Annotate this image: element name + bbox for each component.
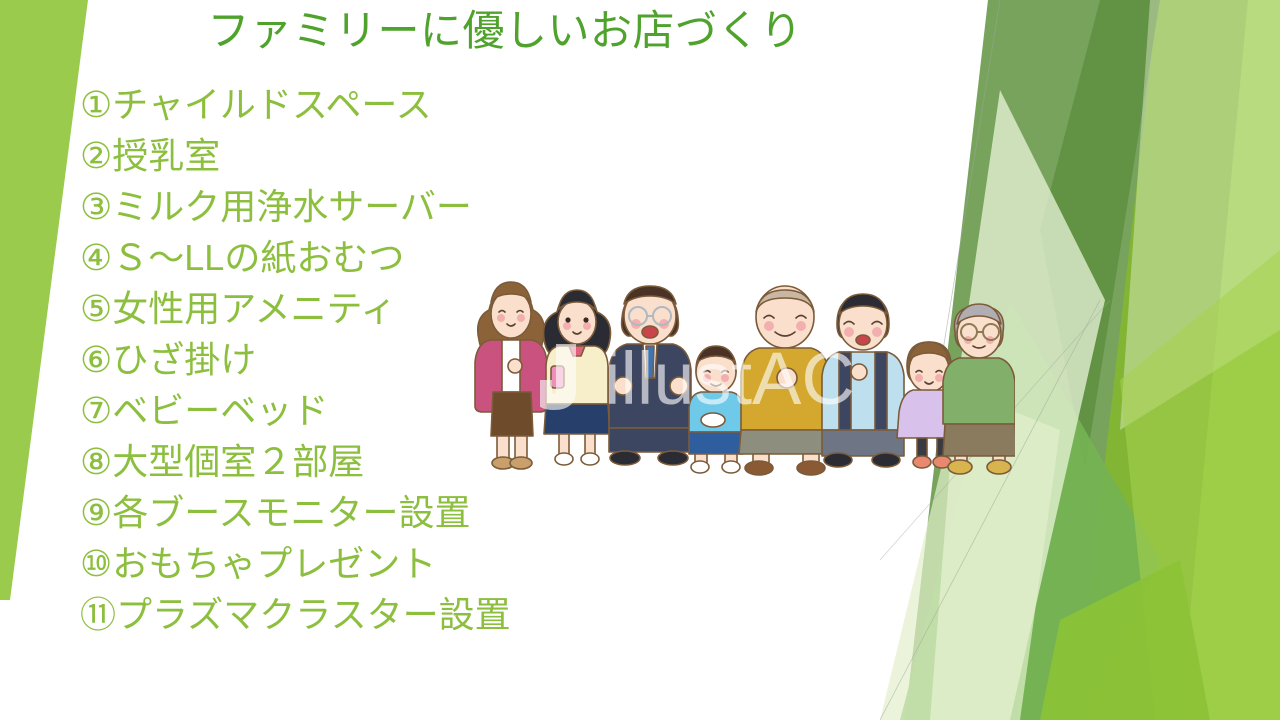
- list-item-label: プラズマクラスター設置: [116, 594, 511, 635]
- feature-list: ①チャイルドスペース ②授乳室 ③ミルク用浄水サーバー ④Ｓ～LLの紙おむつ ⑤…: [80, 79, 700, 640]
- list-item-label: ベビーベッド: [112, 390, 328, 431]
- list-item-label: Ｓ～LLの紙おむつ: [112, 237, 404, 278]
- list-item: ③ミルク用浄水サーバー: [80, 181, 700, 232]
- list-item-number: ⑨: [80, 492, 112, 533]
- list-item-number: ⑪: [80, 594, 116, 635]
- list-item: ⑤女性用アメニティ: [80, 283, 700, 334]
- list-item: ⑩おもちゃプレゼント: [80, 538, 700, 589]
- list-item-number: ③: [80, 186, 112, 227]
- list-item: ⑥ひざ掛け: [80, 334, 700, 385]
- list-item: ②授乳室: [80, 130, 700, 181]
- list-item-number: ⑥: [80, 339, 112, 380]
- slide-canvas: illustAC ファミリーに優しいお店づくり ①チャイルドスペース ②授乳室 …: [0, 0, 1280, 720]
- list-item-label: 各ブースモニター設置: [112, 492, 470, 533]
- list-item-number: ⑩: [80, 543, 112, 584]
- list-item-label: 大型個室２部屋: [112, 441, 364, 482]
- list-item-number: ⑤: [80, 288, 112, 329]
- page-title: ファミリーに優しいお店づくり: [0, 6, 1010, 56]
- list-item: ⑨各ブースモニター設置: [80, 487, 700, 538]
- list-item-label: ミルク用浄水サーバー: [112, 186, 472, 227]
- list-item: ④Ｓ～LLの紙おむつ: [80, 232, 700, 283]
- list-item: ⑧大型個室２部屋: [80, 436, 700, 487]
- list-item-label: 女性用アメニティ: [112, 288, 396, 329]
- list-item-number: ①: [80, 84, 112, 125]
- list-item: ⑪プラズマクラスター設置: [80, 589, 700, 640]
- slide-content: ファミリーに優しいお店づくり ①チャイルドスペース ②授乳室 ③ミルク用浄水サー…: [0, 0, 1280, 720]
- list-item-number: ⑧: [80, 441, 112, 482]
- list-item: ①チャイルドスペース: [80, 79, 700, 130]
- list-item-number: ⑦: [80, 390, 112, 431]
- list-item-label: 授乳室: [112, 135, 220, 176]
- list-item-number: ④: [80, 237, 112, 278]
- list-item-number: ②: [80, 135, 112, 176]
- list-item-label: おもちゃプレゼント: [112, 543, 436, 584]
- list-item: ⑦ベビーベッド: [80, 385, 700, 436]
- list-item-label: ひざ掛け: [112, 339, 256, 380]
- list-item-label: チャイルドスペース: [112, 84, 431, 125]
